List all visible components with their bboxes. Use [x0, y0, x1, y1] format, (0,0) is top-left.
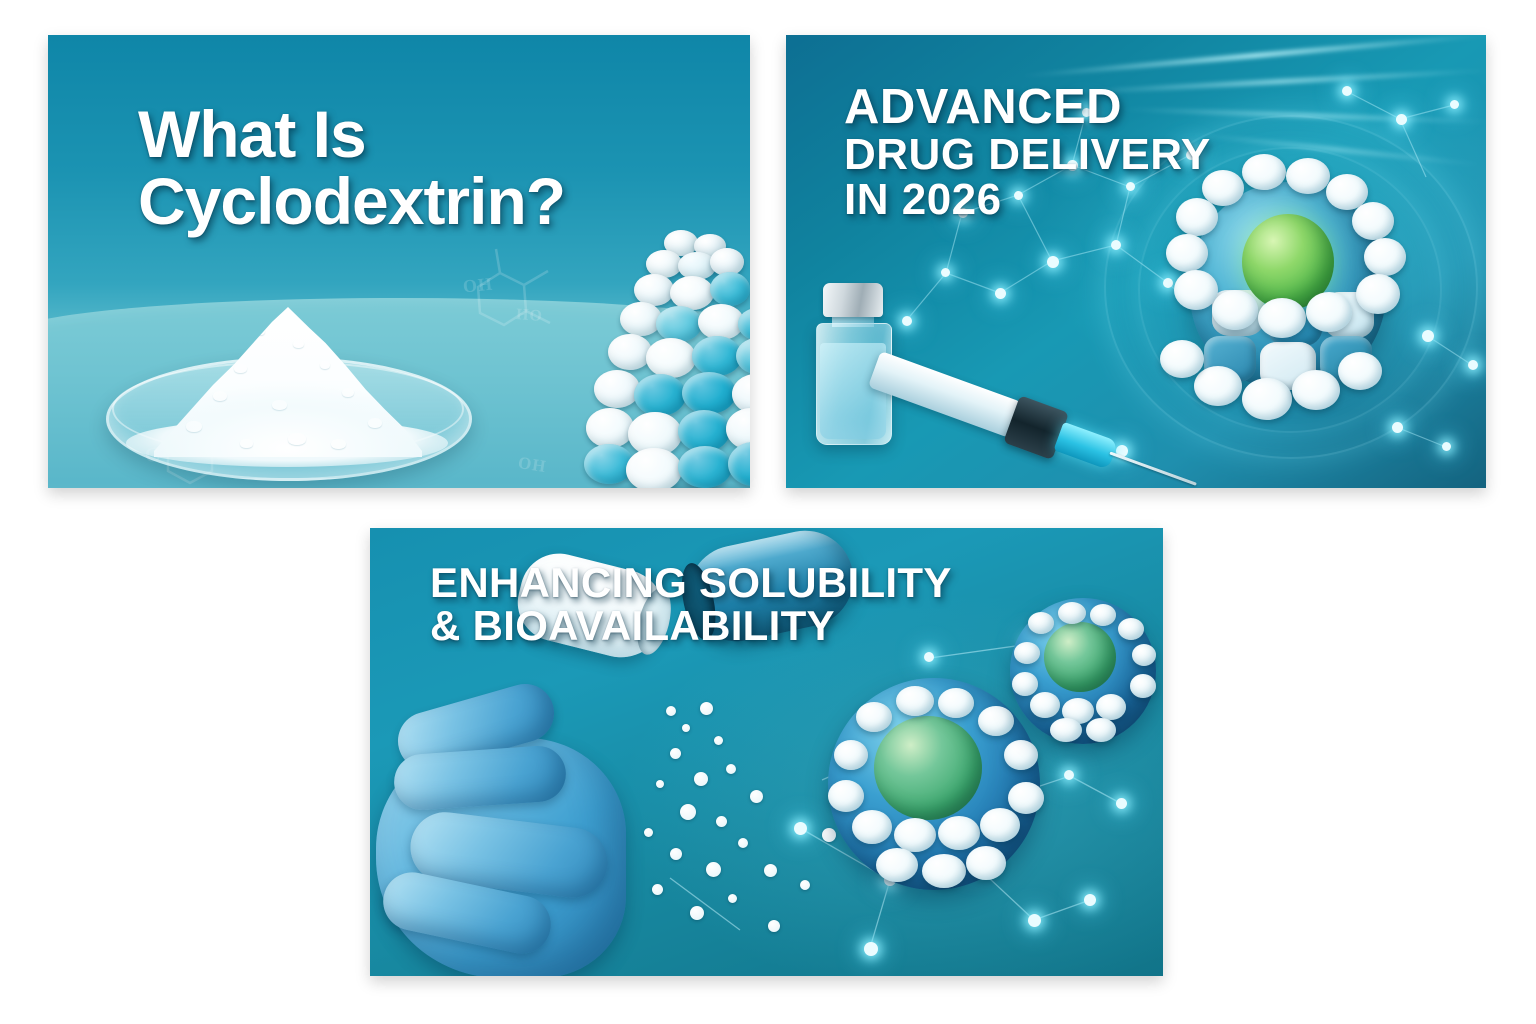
headline-line-1: ENHANCING SOLUBILITY: [430, 562, 952, 605]
banner-collage: OH HO C6H10O5 OH HO: [0, 0, 1536, 1024]
panel-enhancing-solubility[interactable]: ENHANCING SOLUBILITY & BIOAVAILABILITY: [370, 528, 1163, 976]
powder-grain: [670, 848, 682, 860]
cyclodextrin-lobe: [1242, 154, 1286, 190]
cyclodextrin-lobe: [894, 818, 936, 852]
pill: [626, 448, 682, 488]
powder-grain: [670, 748, 681, 759]
guest-molecule: [874, 716, 982, 820]
cyclodextrin-lobe: [1258, 298, 1306, 338]
syringe-hub: [1053, 422, 1118, 470]
cyclodextrin-lobe: [1096, 694, 1126, 720]
pill: [646, 338, 696, 378]
headline-line-1: ADVANCED: [844, 83, 1211, 133]
network-node: [1084, 894, 1096, 906]
network-node: [995, 288, 1006, 299]
panel-advanced-drug-delivery[interactable]: ADVANCED DRUG DELIVERY IN 2026: [786, 35, 1486, 488]
pill: [736, 338, 750, 374]
pill: [678, 446, 732, 488]
pill: [634, 374, 686, 416]
cyclodextrin-lobe: [1086, 718, 1116, 742]
cyclodextrin-lobe: [1352, 202, 1394, 240]
petri-dish: [106, 315, 466, 475]
cyclodextrin-lobe: [1292, 370, 1340, 410]
cyclodextrin-lobe: [834, 740, 868, 770]
headline-line-2: & BIOAVAILABILITY: [430, 605, 952, 648]
network-node: [1111, 240, 1121, 250]
powder-grain: [764, 864, 777, 877]
cyclodextrin-lobe: [1028, 612, 1054, 634]
panel-1-headline: What Is Cyclodextrin?: [138, 101, 565, 236]
cyclodextrin-lobe: [1174, 270, 1218, 310]
powder-grain: [750, 790, 763, 803]
cyclodextrin-lobe: [828, 780, 864, 812]
powder-grain: [738, 838, 748, 848]
network-node: [794, 822, 807, 835]
pill: [710, 272, 750, 306]
powder-grain: [800, 880, 810, 890]
cyclodextrin-lobe: [978, 706, 1014, 736]
cyclodextrin-lobe: [1118, 618, 1144, 640]
cyclodextrin-lobe: [1058, 602, 1086, 624]
cyclodextrin-sphere-small: [1010, 598, 1156, 744]
powder-grain: [700, 702, 713, 715]
cyclodextrin-sphere-large: [828, 678, 1040, 890]
powder-grain: [728, 894, 737, 903]
cyclodextrin-lobe: [1212, 290, 1258, 330]
panel-what-is-cyclodextrin[interactable]: OH HO C6H10O5 OH HO: [48, 35, 750, 488]
network-node: [1468, 360, 1478, 370]
cyclodextrin-lobe: [938, 816, 980, 850]
network-node: [1450, 100, 1459, 109]
cyclodextrin-lobe: [1286, 158, 1330, 194]
cyclodextrin-lobe: [1160, 340, 1204, 378]
cyclodextrin-lobe: [876, 848, 918, 882]
network-node: [1442, 442, 1451, 451]
cyclodextrin-lobe: [1130, 674, 1156, 698]
pill: [670, 276, 714, 310]
cyclodextrin-lobe: [1090, 604, 1116, 626]
cyclodextrin-lobe: [922, 854, 966, 888]
pill: [682, 372, 736, 414]
headline-line-3: IN 2026: [844, 178, 1211, 223]
network-node: [864, 942, 878, 956]
powder-grain: [694, 772, 708, 786]
powder-grain: [682, 724, 690, 732]
cyclodextrin-lobe: [1008, 782, 1044, 814]
cyclodextrin-lobe: [1364, 238, 1406, 276]
network-node: [1116, 798, 1127, 809]
cyclodextrin-lobe: [896, 686, 934, 716]
network-node: [902, 316, 912, 326]
headline-line-2: Cyclodextrin?: [138, 168, 565, 235]
network-node: [1396, 114, 1407, 125]
powder-grain: [726, 764, 736, 774]
cyclodextrin-lobe: [1338, 352, 1382, 390]
cyclodextrin-lobe: [1242, 378, 1292, 420]
pill: [594, 370, 640, 408]
headline-line-2: DRUG DELIVERY: [844, 133, 1211, 178]
cyclodextrin-lobe: [1356, 274, 1400, 314]
cyclodextrin-lobe: [852, 810, 892, 844]
powder-grain: [666, 706, 676, 716]
pill: [586, 408, 634, 448]
panel-2-headline: ADVANCED DRUG DELIVERY IN 2026: [844, 83, 1211, 223]
pill: [692, 336, 742, 376]
cyclodextrin-lobe: [1050, 718, 1082, 742]
powder-grain: [656, 780, 664, 788]
cyclodextrin-lobe: [1166, 234, 1208, 272]
powder-grain: [706, 862, 721, 877]
cyclodextrin-lobe: [1014, 642, 1040, 664]
cyclodextrin-lobe: [1306, 292, 1352, 332]
cyclodextrin-lobe: [1012, 672, 1038, 696]
cyclodextrin-lobe: [1030, 692, 1060, 718]
network-node: [924, 652, 934, 662]
powder-grain: [680, 804, 696, 820]
cyclodextrin-lobe: [966, 846, 1006, 880]
powder-grain: [652, 884, 663, 895]
cyclodextrin-lobe: [1132, 644, 1156, 666]
panel-3-headline: ENHANCING SOLUBILITY & BIOAVAILABILITY: [430, 562, 952, 648]
powder-grain: [716, 816, 727, 827]
vial-cap: [823, 283, 883, 317]
headline-line-1: What Is: [138, 97, 366, 171]
pill: [656, 306, 702, 342]
gloved-hand: [376, 688, 706, 976]
powder-grain: [768, 920, 780, 932]
cyclodextrin-lobe: [980, 808, 1020, 842]
pill: [608, 334, 652, 370]
network-node: [1047, 256, 1059, 268]
network-node: [1028, 914, 1041, 927]
network-node: [1064, 770, 1074, 780]
network-node: [1342, 86, 1352, 96]
powder-grain: [714, 736, 723, 745]
cyclodextrin-lobe: [1004, 740, 1038, 770]
cyclodextrin-lobe: [938, 688, 974, 718]
cyclodextrin-lobe: [1194, 366, 1242, 406]
powder-grain: [690, 906, 704, 920]
pill: [728, 442, 750, 486]
powder-grain: [644, 828, 653, 837]
guest-molecule: [1044, 622, 1116, 692]
cyclodextrin-lobe: [856, 702, 892, 732]
pill-cone-stack: [584, 230, 750, 488]
network-node: [941, 268, 950, 277]
